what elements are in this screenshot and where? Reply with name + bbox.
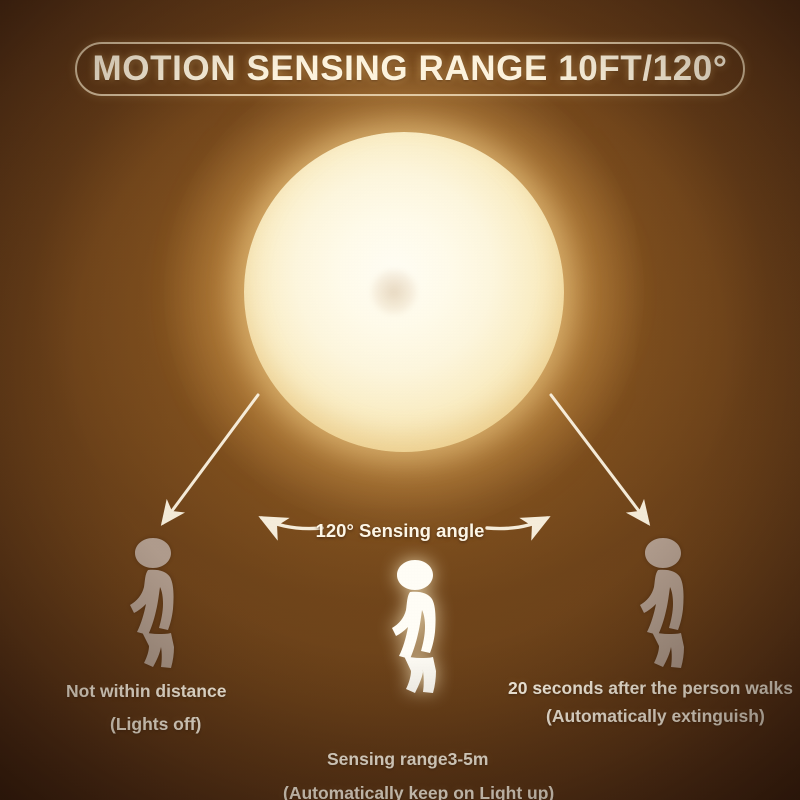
caption-right-line1: 20 seconds after the person walks [508,678,793,699]
arrow-to-left-figure [163,395,258,523]
motion-sensor-dot [371,269,417,315]
caption-left-line1: Not within distance [66,681,226,702]
page-title: MOTION SENSING RANGE 10FT/120° [93,49,728,89]
caption-left-line2: (Lights off) [110,714,201,735]
caption-right-line2: (Automatically extinguish) [546,706,765,727]
person-figure-right [622,534,706,670]
puck-light-lamp [244,132,564,452]
person-figure-center [372,556,460,696]
walking-person-icon [622,534,706,670]
arrow-to-right-figure [551,395,648,523]
walking-person-icon [112,534,196,670]
person-figure-left [112,534,196,670]
walking-person-icon [372,556,460,696]
title-banner: MOTION SENSING RANGE 10FT/120° [75,42,745,96]
product-infographic: MOTION SENSING RANGE 10FT/120° 120° Sens… [0,0,800,800]
caption-center-line2: (Automatically keep on Light up) [283,783,554,800]
caption-center-line1: Sensing range3-5m [327,749,488,770]
